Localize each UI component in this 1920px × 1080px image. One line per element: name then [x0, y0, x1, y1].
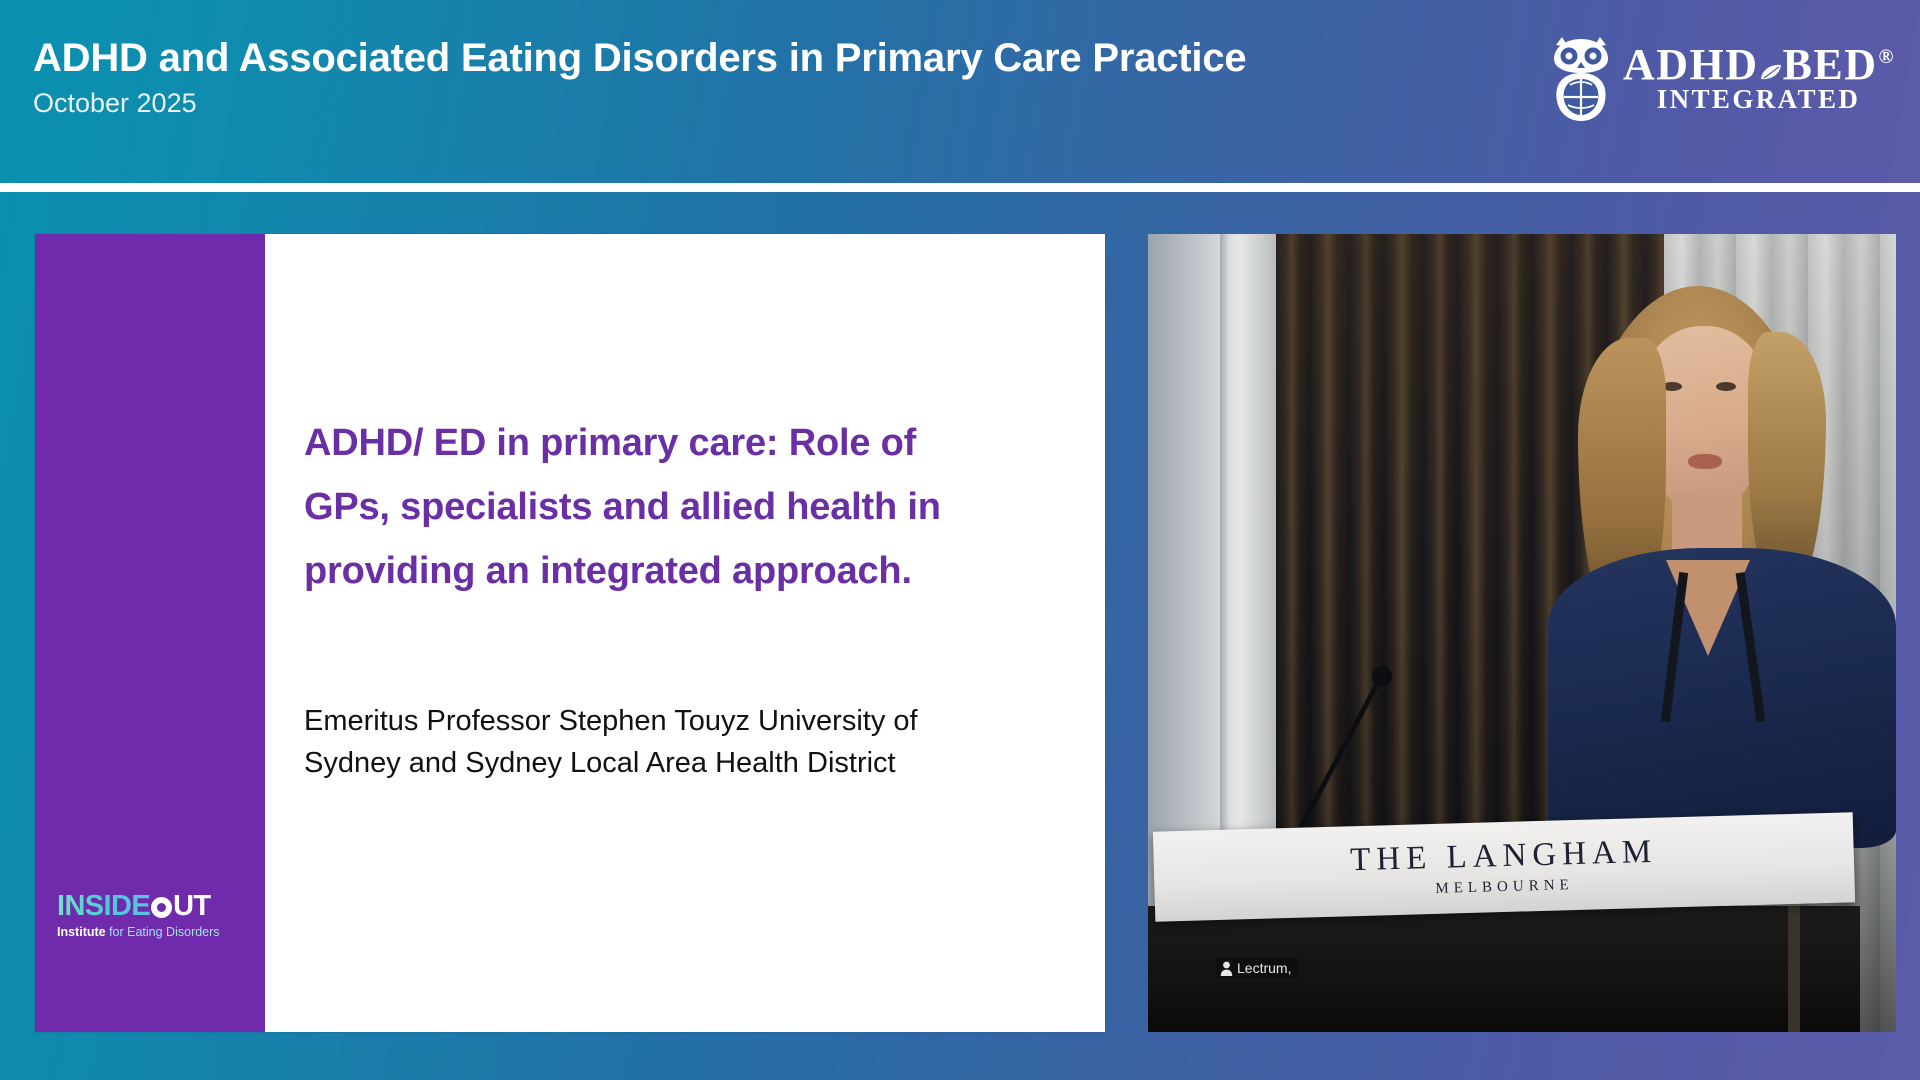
speaker-photo[interactable]: THE LANGHAM MELBOURNE Lectrum, [1148, 234, 1896, 1032]
header-divider [0, 183, 1920, 192]
insideout-wordmark: INSIDE UT [57, 890, 247, 922]
brand-adhd: ADHD [1623, 42, 1759, 88]
brand-logo[interactable]: ADHD BED ® INTEGRATED [1548, 30, 1894, 126]
insideout-word-inside: INSIDE [57, 890, 150, 922]
photo-speaker-figure [1520, 286, 1896, 846]
insideout-tagline-strong: Institute [57, 925, 106, 939]
slide-byline: Emeritus Professor Stephen Touyz Univers… [304, 700, 944, 784]
presentation-date: October 2025 [33, 86, 1463, 120]
insideout-word-ut: UT [173, 890, 210, 922]
page-title: ADHD and Associated Eating Disorders in … [33, 34, 1463, 82]
photo-speaker-mouth [1688, 454, 1722, 469]
header-text-block: ADHD and Associated Eating Disorders in … [33, 34, 1463, 120]
photo-lectern-edge [1788, 906, 1800, 1032]
owl-icon [1548, 35, 1614, 121]
brand-wordmark: ADHD BED ® INTEGRATED [1623, 42, 1894, 114]
lectrum-watermark: Lectrum, [1216, 958, 1298, 978]
slide-body: ADHD/ ED in primary care: Role of GPs, s… [265, 234, 1105, 1032]
insideout-tagline: Institute for Eating Disorders [57, 925, 247, 940]
insideout-logo: INSIDE UT Institute for Eating Disorders [57, 890, 247, 940]
lectrum-watermark-label: Lectrum, [1237, 960, 1291, 976]
insideout-tagline-soft: for Eating Disorders [106, 925, 220, 939]
leaf-icon [1760, 63, 1782, 81]
langham-sign-subtitle: MELBOURNE [1435, 876, 1574, 898]
insideout-o-icon [151, 897, 172, 918]
slide-sidebar: INSIDE UT Institute for Eating Disorders [35, 234, 265, 1032]
brand-integrated: INTEGRATED [1623, 84, 1894, 114]
photo-speaker-eye-right [1716, 382, 1736, 391]
slide-stage: INSIDE UT Institute for Eating Disorders… [0, 192, 1920, 1080]
brand-bed: BED [1783, 42, 1878, 88]
langham-sign-title: THE LANGHAM [1350, 834, 1658, 879]
slide-heading: ADHD/ ED in primary care: Role of GPs, s… [304, 411, 964, 603]
presentation-viewer: ADHD and Associated Eating Disorders in … [0, 0, 1920, 1080]
slide-card[interactable]: INSIDE UT Institute for Eating Disorders… [35, 234, 1105, 1032]
person-icon [1220, 961, 1233, 976]
header-band: ADHD and Associated Eating Disorders in … [0, 0, 1920, 183]
registered-mark: ® [1879, 47, 1895, 67]
